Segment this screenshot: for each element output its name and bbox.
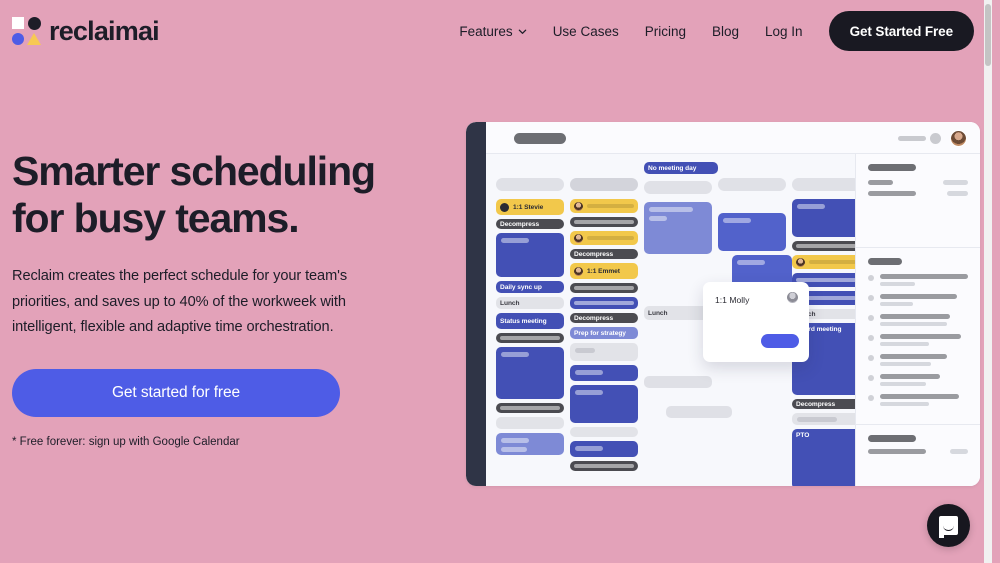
bullet-dot-icon bbox=[868, 315, 874, 321]
nav-item-features[interactable]: Features bbox=[459, 24, 526, 39]
event-bar-placeholder bbox=[587, 236, 634, 240]
nav-item-use-cases-label: Use Cases bbox=[553, 24, 619, 39]
event-bar-placeholder bbox=[501, 352, 529, 357]
calendar-event[interactable] bbox=[792, 255, 855, 269]
calendar-empty-slot bbox=[644, 258, 712, 306]
user-avatar bbox=[787, 292, 798, 303]
list-item[interactable] bbox=[868, 334, 968, 346]
list-item[interactable] bbox=[868, 374, 968, 386]
calendar-event-label: Lunch bbox=[500, 300, 520, 307]
avatar-icon bbox=[796, 258, 805, 267]
list-item-line bbox=[880, 382, 926, 386]
calendar-event[interactable] bbox=[570, 199, 638, 213]
list-item-content bbox=[880, 394, 968, 406]
list-item-line bbox=[880, 334, 961, 339]
event-bar-placeholder bbox=[575, 446, 603, 451]
popup-confirm-button[interactable] bbox=[761, 334, 799, 348]
logo-yellow-triangle-shape bbox=[27, 33, 41, 45]
calendar-event[interactable]: Decompress bbox=[570, 313, 638, 323]
nav-item-pricing[interactable]: Pricing bbox=[645, 24, 686, 39]
app-topbar-pill-placeholder bbox=[898, 136, 926, 141]
calendar-event-label: Decompress bbox=[500, 221, 539, 228]
calendar-event[interactable] bbox=[570, 343, 638, 361]
calendar-event-label: Status meeting bbox=[500, 318, 547, 325]
chat-bubble-icon bbox=[939, 516, 958, 535]
calendar-event-label: Decompress bbox=[796, 401, 835, 408]
list-item[interactable] bbox=[868, 394, 968, 406]
calendar-event[interactable] bbox=[570, 231, 638, 245]
calendar-event[interactable] bbox=[570, 385, 638, 423]
list-item-content bbox=[880, 274, 968, 286]
calendar-event[interactable] bbox=[792, 241, 855, 251]
list-item-line bbox=[880, 314, 950, 319]
app-body: 1:1 Stevie Decompress Daily sync up Lunc… bbox=[486, 122, 980, 486]
nav-item-blog[interactable]: Blog bbox=[712, 24, 739, 39]
hero-subtitle: Reclaim creates the perfect schedule for… bbox=[12, 264, 397, 341]
event-bar-placeholder bbox=[500, 406, 560, 410]
calendar-event[interactable]: Decompress bbox=[570, 249, 638, 259]
calendar-event[interactable] bbox=[570, 441, 638, 457]
calendar-event[interactable] bbox=[496, 233, 564, 277]
list-item-content bbox=[880, 334, 968, 346]
column-header-placeholder bbox=[496, 178, 564, 191]
get-started-free-button[interactable]: Get Started Free bbox=[829, 11, 974, 51]
list-item-line bbox=[880, 282, 915, 286]
no-meeting-day-label: No meeting day bbox=[648, 165, 696, 172]
list-item-line bbox=[880, 322, 947, 326]
calendar-event[interactable]: Decompress bbox=[496, 219, 564, 229]
avatar-icon bbox=[574, 267, 583, 276]
side-panel-line bbox=[947, 191, 968, 196]
calendar-event[interactable]: PTO bbox=[792, 429, 855, 486]
event-bar-placeholder bbox=[649, 216, 667, 221]
event-bar-placeholder bbox=[501, 438, 529, 443]
nav-item-log-in-label: Log In bbox=[765, 24, 803, 39]
logo-dark-circle-shape bbox=[28, 17, 41, 30]
event-bar-placeholder bbox=[575, 370, 603, 375]
list-item[interactable] bbox=[868, 354, 968, 366]
calendar-event[interactable] bbox=[644, 202, 712, 254]
side-panel-summary-section bbox=[856, 154, 980, 248]
calendar-event[interactable] bbox=[570, 461, 638, 471]
side-panel-spacer bbox=[868, 202, 968, 237]
event-bar-placeholder bbox=[649, 207, 693, 212]
side-panel-heading-placeholder bbox=[868, 164, 916, 171]
column-header-placeholder bbox=[718, 178, 786, 191]
event-bar-placeholder bbox=[797, 204, 825, 209]
calendar-event[interactable] bbox=[570, 297, 638, 309]
landing-page: reclaimai Features Use Cases Pricing Blo… bbox=[0, 0, 992, 563]
list-item[interactable] bbox=[868, 314, 968, 326]
logo-blue-circle-shape bbox=[12, 33, 24, 45]
side-panel-line bbox=[943, 180, 968, 185]
user-avatar[interactable] bbox=[950, 130, 967, 147]
event-detail-popup[interactable]: 1:1 Molly bbox=[703, 282, 809, 362]
calendar-column bbox=[718, 178, 786, 297]
calendar-event[interactable] bbox=[496, 333, 564, 343]
no-meeting-day-badge[interactable]: No meeting day bbox=[644, 162, 718, 174]
column-header-placeholder bbox=[792, 178, 855, 191]
list-item-line bbox=[880, 354, 947, 359]
column-header-placeholder bbox=[644, 181, 712, 194]
brand-logo[interactable]: reclaimai bbox=[12, 16, 159, 46]
bullet-dot-icon bbox=[868, 395, 874, 401]
page-title: Smarter scheduling for busy teams. bbox=[12, 148, 427, 242]
page-scrollbar[interactable] bbox=[984, 0, 992, 563]
calendar-column: 1:1 Stevie Decompress Daily sync up Lunc… bbox=[496, 178, 564, 459]
column-header-placeholder bbox=[570, 178, 638, 191]
event-bar-placeholder bbox=[501, 238, 529, 243]
list-item-line bbox=[880, 402, 929, 406]
popup-title: 1:1 Molly bbox=[715, 295, 749, 305]
side-panel-line bbox=[868, 191, 916, 196]
side-panel-footer-section bbox=[856, 425, 980, 470]
hero-section: Smarter scheduling for busy teams. Recla… bbox=[12, 148, 427, 448]
event-bar-placeholder bbox=[575, 348, 595, 353]
calendar-empty-slot bbox=[644, 324, 712, 376]
reclaim-logo-mark-icon bbox=[12, 16, 42, 46]
app-left-rail bbox=[466, 122, 486, 486]
event-bar-placeholder bbox=[500, 336, 560, 340]
app-topbar bbox=[486, 122, 980, 154]
calendar-event-label: Daily sync up bbox=[500, 284, 542, 291]
calendar-event[interactable]: Status meeting bbox=[496, 313, 564, 329]
calendar-event[interactable]: Daily sync up bbox=[496, 281, 564, 293]
calendar-event[interactable] bbox=[570, 365, 638, 381]
calendar-event[interactable] bbox=[792, 413, 855, 425]
list-item-line bbox=[880, 274, 968, 279]
calendar-event[interactable]: Lunch bbox=[644, 306, 712, 320]
bullet-dot-icon bbox=[868, 275, 874, 281]
calendar-event-label: PTO bbox=[796, 432, 809, 439]
avatar-icon bbox=[574, 202, 583, 211]
hero-title-line-1: Smarter scheduling bbox=[12, 148, 375, 194]
avatar-icon bbox=[574, 234, 583, 243]
event-bar-placeholder bbox=[809, 260, 855, 264]
list-item-content bbox=[880, 294, 968, 306]
list-item[interactable] bbox=[868, 274, 968, 286]
bullet-dot-icon bbox=[868, 335, 874, 341]
calendar-event[interactable] bbox=[718, 213, 786, 251]
calendar-event-label: Prep for strategy bbox=[574, 330, 626, 337]
calendar-event[interactable] bbox=[496, 347, 564, 399]
logo-square-shape bbox=[12, 17, 24, 29]
calendar-event-label: 1:1 Emmet bbox=[587, 268, 620, 275]
event-bar-placeholder bbox=[723, 218, 751, 223]
page-scrollbar-thumb[interactable] bbox=[985, 4, 991, 66]
list-item-line bbox=[880, 294, 957, 299]
nav-item-log-in[interactable]: Log In bbox=[765, 24, 803, 39]
nav-item-blog-label: Blog bbox=[712, 24, 739, 39]
calendar-event[interactable]: Prep for strategy bbox=[570, 327, 638, 339]
side-panel-row bbox=[868, 449, 968, 454]
calendar-event[interactable]: 1:1 Stevie bbox=[496, 199, 564, 215]
bullet-dot-icon bbox=[868, 355, 874, 361]
event-bar-placeholder bbox=[587, 204, 634, 208]
calendar-event[interactable]: Decompress bbox=[792, 399, 855, 409]
side-panel-line bbox=[868, 180, 893, 185]
list-item-content bbox=[880, 354, 968, 366]
event-bar-placeholder bbox=[796, 244, 855, 248]
calendar-event[interactable] bbox=[496, 433, 564, 455]
list-item-line bbox=[880, 374, 940, 379]
calendar-event-label: 1:1 Stevie bbox=[513, 204, 543, 211]
calendar-event[interactable] bbox=[570, 283, 638, 293]
side-panel-list-heading-placeholder bbox=[868, 258, 902, 265]
nav-item-use-cases[interactable]: Use Cases bbox=[553, 24, 619, 39]
side-panel-row bbox=[868, 180, 968, 185]
list-item-line bbox=[880, 394, 959, 399]
side-panel-footer-heading-placeholder bbox=[868, 435, 916, 442]
bullet-dot-icon bbox=[868, 295, 874, 301]
hero-title-line-2: for busy teams. bbox=[12, 195, 299, 241]
get-started-for-free-button[interactable]: Get started for free bbox=[12, 369, 340, 417]
side-panel-list-section bbox=[856, 248, 980, 425]
event-bar-placeholder bbox=[574, 286, 634, 290]
site-header: reclaimai Features Use Cases Pricing Blo… bbox=[0, 0, 992, 62]
list-item-content bbox=[880, 314, 968, 326]
calendar-event[interactable]: 1:1 Emmet bbox=[570, 263, 638, 279]
chevron-down-icon bbox=[518, 27, 527, 36]
list-item-content bbox=[880, 374, 968, 386]
event-bar-placeholder bbox=[797, 417, 837, 422]
side-panel-line bbox=[868, 449, 926, 454]
calendar-event[interactable] bbox=[496, 417, 564, 429]
event-bar-placeholder bbox=[575, 390, 603, 395]
nav-item-features-label: Features bbox=[459, 24, 512, 39]
calendar-event[interactable] bbox=[666, 406, 732, 418]
circle-icon[interactable] bbox=[930, 133, 941, 144]
calendar-event-label: Decompress bbox=[574, 315, 613, 322]
calendar-empty-slot bbox=[718, 199, 786, 213]
calendar-event-label: Decompress bbox=[574, 251, 613, 258]
event-bar-placeholder bbox=[501, 447, 527, 452]
event-bar-placeholder bbox=[796, 278, 855, 282]
event-bar-placeholder bbox=[574, 220, 634, 224]
calendar-event[interactable] bbox=[496, 403, 564, 413]
calendar-event[interactable] bbox=[644, 376, 712, 388]
app-preview-image: 1:1 Stevie Decompress Daily sync up Lunc… bbox=[466, 122, 980, 486]
list-item-line bbox=[880, 302, 913, 306]
calendar-column: No meeting day Lunch bbox=[644, 162, 712, 422]
app-title-placeholder bbox=[514, 133, 566, 144]
bullet-dot-icon bbox=[868, 375, 874, 381]
calendar-event[interactable]: Lunch bbox=[496, 297, 564, 309]
calendar-empty-slot bbox=[644, 392, 712, 406]
chat-widget-button[interactable] bbox=[927, 504, 970, 547]
side-panel-row bbox=[868, 191, 968, 196]
calendar-event[interactable] bbox=[570, 217, 638, 227]
nav-item-pricing-label: Pricing bbox=[645, 24, 686, 39]
list-item-line bbox=[880, 342, 929, 346]
clock-icon bbox=[500, 203, 509, 212]
calendar-event[interactable] bbox=[570, 427, 638, 437]
brand-name: reclaimai bbox=[49, 18, 159, 45]
main-navigation: Features Use Cases Pricing Blog Log In G… bbox=[459, 11, 974, 51]
event-bar-placeholder bbox=[574, 464, 634, 468]
list-item[interactable] bbox=[868, 294, 968, 306]
app-side-panel bbox=[855, 154, 980, 486]
calendar-column: Decompress 1:1 Emmet Decompress bbox=[570, 178, 638, 475]
calendar-grid: 1:1 Stevie Decompress Daily sync up Lunc… bbox=[486, 154, 855, 486]
side-panel-line bbox=[950, 449, 968, 454]
hero-fineprint: * Free forever: sign up with Google Cale… bbox=[12, 436, 427, 448]
list-item-line bbox=[880, 362, 931, 366]
calendar-event-label: Lunch bbox=[648, 310, 668, 317]
event-bar-placeholder bbox=[574, 301, 634, 305]
event-bar-placeholder bbox=[737, 260, 765, 265]
calendar-event[interactable] bbox=[792, 199, 855, 237]
